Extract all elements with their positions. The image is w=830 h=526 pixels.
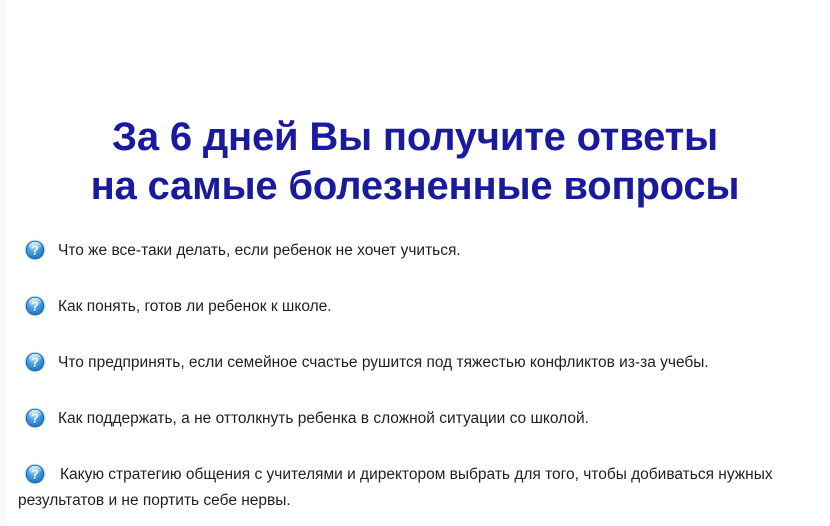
question-mark-icon: ? bbox=[24, 351, 46, 373]
list-item: ? Как понять, готов ли ребенок к школе. bbox=[18, 294, 818, 320]
list-item-label: Что же все-таки делать, если ребенок не … bbox=[18, 238, 818, 264]
question-mark-icon: ? bbox=[24, 407, 46, 429]
promo-page: За 6 дней Вы получите ответы на самые бо… bbox=[0, 0, 830, 526]
page-title-line-2: на самые болезненные вопросы bbox=[0, 162, 830, 211]
question-mark-icon: ? bbox=[24, 295, 46, 317]
list-item: ? Что предпринять, если семейное счастье… bbox=[18, 350, 818, 376]
list-item-label: Как понять, готов ли ребенок к школе. bbox=[18, 294, 818, 320]
list-item: ? Какую стратегию общения с учителями и … bbox=[18, 462, 818, 514]
page-title-line-1: За 6 дней Вы получите ответы bbox=[0, 113, 830, 162]
question-mark-icon: ? bbox=[24, 463, 46, 485]
svg-text:?: ? bbox=[31, 356, 39, 370]
list-item-label: Как поддержать, а не оттолкнуть ребенка … bbox=[18, 406, 818, 432]
svg-text:?: ? bbox=[31, 300, 39, 314]
benefits-list: ? Что же все-таки делать, если ребенок н… bbox=[18, 238, 818, 514]
svg-text:?: ? bbox=[31, 244, 39, 258]
list-item: ? Как поддержать, а не оттолкнуть ребенк… bbox=[18, 406, 818, 432]
list-item: ? Что же все-таки делать, если ребенок н… bbox=[18, 238, 818, 264]
svg-text:?: ? bbox=[31, 412, 39, 426]
svg-text:?: ? bbox=[31, 468, 39, 482]
list-item-label: Какую стратегию общения с учителями и ди… bbox=[18, 462, 818, 514]
page-title: За 6 дней Вы получите ответы на самые бо… bbox=[0, 113, 830, 211]
question-mark-icon: ? bbox=[24, 239, 46, 261]
list-item-label: Что предпринять, если семейное счастье р… bbox=[18, 350, 818, 376]
